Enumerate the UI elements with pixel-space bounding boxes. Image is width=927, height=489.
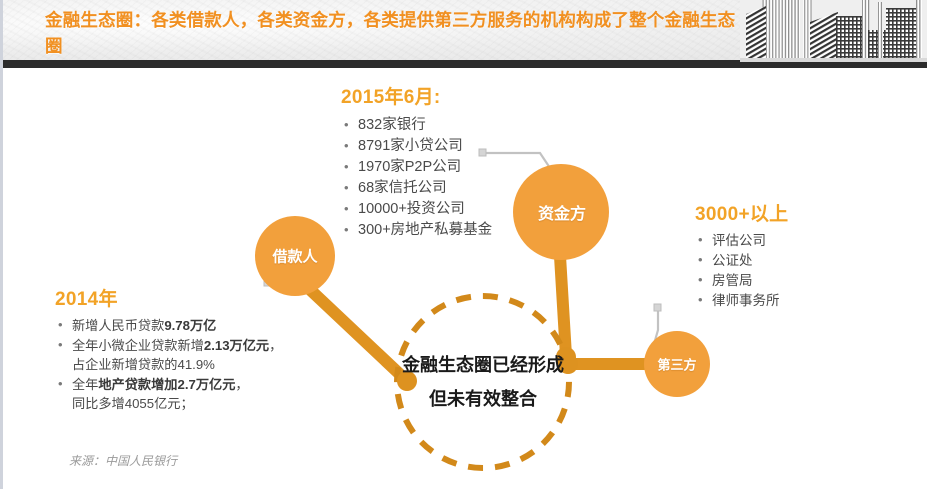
source-note: 来源：中国人民银行 xyxy=(69,452,177,469)
list-item: 832家银行 xyxy=(341,115,556,136)
list-item: 全年小微企业贷款新增2.13万亿元， xyxy=(55,336,315,356)
list-item: 8791家小贷公司 xyxy=(341,136,556,157)
list-item: 1970家P2P公司 xyxy=(341,157,556,178)
block-2014-title: 2014年 xyxy=(55,288,315,312)
list-item: 律师事务所 xyxy=(695,291,895,311)
block-2014-list: 新增人民币贷款9.78万亿 全年小微企业贷款新增2.13万亿元， 占企业新增贷款… xyxy=(55,316,315,414)
list-item: 全年地产贷款增加2.7万亿元， xyxy=(55,375,315,395)
skyline-graphic xyxy=(740,0,927,62)
block-3000-list: 评估公司 公证处 房管局 律师事务所 xyxy=(695,231,895,311)
bubble-third-party[interactable] xyxy=(644,331,710,397)
center-line-2: 但未有效整合 xyxy=(358,382,608,416)
slide-canvas: 金融生态圈：各类借款人，各类资金方，各类提供第三方服务的机构构成了整个金融生态圈 xyxy=(0,0,927,489)
block-2015-list: 832家银行 8791家小贷公司 1970家P2P公司 68家信托公司 1000… xyxy=(341,115,556,241)
block-2015-title: 2015年6月: xyxy=(341,86,556,110)
block-3000: 3000+以上 评估公司 公证处 房管局 律师事务所 xyxy=(695,203,895,311)
list-item-continuation: 同比多增4055亿元； xyxy=(55,394,315,414)
block-2015: 2015年6月: 832家银行 8791家小贷公司 1970家P2P公司 68家… xyxy=(341,86,556,241)
list-item: 评估公司 xyxy=(695,231,895,251)
block-2014: 2014年 新增人民币贷款9.78万亿 全年小微企业贷款新增2.13万亿元， 占… xyxy=(55,288,315,414)
list-item-continuation: 占企业新增贷款的41.9% xyxy=(55,355,315,375)
list-item: 10000+投资公司 xyxy=(341,199,556,220)
list-item: 68家信托公司 xyxy=(341,178,556,199)
list-item: 公证处 xyxy=(695,251,895,271)
slide-header: 金融生态圈：各类借款人，各类资金方，各类提供第三方服务的机构构成了整个金融生态圈 xyxy=(3,0,927,68)
center-line-1: 金融生态圈已经形成 xyxy=(358,348,608,382)
block-3000-title: 3000+以上 xyxy=(695,203,895,227)
bubble-borrower[interactable] xyxy=(255,216,335,296)
page-title: 金融生态圈：各类借款人，各类资金方，各类提供第三方服务的机构构成了整个金融生态圈 xyxy=(45,7,745,59)
list-item: 房管局 xyxy=(695,271,895,291)
center-statement: 金融生态圈已经形成 但未有效整合 xyxy=(358,348,608,416)
list-item: 300+房地产私募基金 xyxy=(341,220,556,241)
list-item: 新增人民币贷款9.78万亿 xyxy=(55,316,315,336)
